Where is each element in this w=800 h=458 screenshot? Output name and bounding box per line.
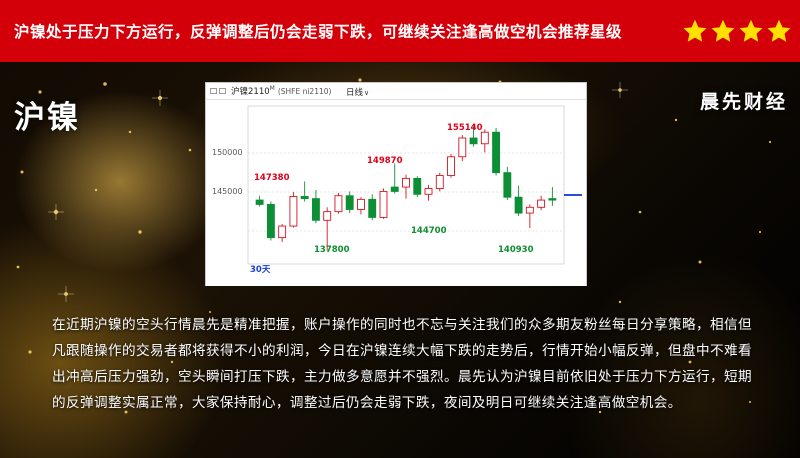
brand-logo: 晨先财经 (700, 87, 788, 114)
star-icon (710, 18, 736, 44)
headline-text: 沪镍处于压力下方运行，反弹调整后仍会走弱下跌，可继续关注逢高做空机会推荐星级 (14, 20, 622, 42)
symbol-superscript: M (270, 85, 275, 92)
symbol-label: 沪镍2110M(SHFE ni2110) (231, 85, 331, 97)
chart-toolbar[interactable]: 沪镍2110M(SHFE ni2110) 日线∨ (206, 83, 586, 100)
annotation-high-149870: 149870 (367, 156, 403, 166)
symbol-name: 沪镍2110 (231, 87, 270, 97)
y-axis-label-145000: 145000 (212, 187, 243, 196)
candlestick-chart (206, 100, 586, 286)
poster-page: 沪镍处于压力下方运行，反弹调整后仍会走弱下跌，可继续关注逢高做空机会推荐星级 (0, 0, 800, 458)
annotation-low-144700: 144700 (411, 226, 447, 236)
annotation-low-140930: 140930 (498, 245, 534, 255)
period-selector[interactable]: 日线∨ (346, 86, 369, 98)
chart-panel[interactable]: 沪镍2110M(SHFE ni2110) 日线∨ 150000 145000 1… (205, 82, 587, 286)
chart-plot-area[interactable]: 150000 145000 155140 149870 147380 14470… (206, 100, 586, 286)
star-icon (682, 18, 708, 44)
annotation-high-147380: 147380 (254, 173, 290, 183)
article-paragraph: 在近期沪镍的空头行情晨先是精准把握，账户操作的同时也不忘与关注我们的众多期友粉丝… (52, 312, 752, 416)
star-icon (738, 18, 764, 44)
headline-banner: 沪镍处于压力下方运行，反弹调整后仍会走弱下跌，可继续关注逢高做空机会推荐星级 (0, 0, 800, 62)
symbol-code: (SHFE ni2110) (278, 87, 332, 96)
star-rating (682, 18, 792, 44)
annotation-low-137800: 137800 (314, 245, 350, 255)
y-axis-label-150000: 150000 (212, 148, 243, 157)
annotation-high-155140: 155140 (447, 123, 483, 133)
x-axis-range-label: 30天 (250, 263, 270, 275)
layout-toggle-icon[interactable] (210, 88, 226, 94)
chevron-down-icon: ∨ (364, 89, 369, 97)
page-title: 沪镍 (14, 92, 80, 137)
period-label: 日线 (346, 88, 363, 98)
star-icon (766, 18, 792, 44)
